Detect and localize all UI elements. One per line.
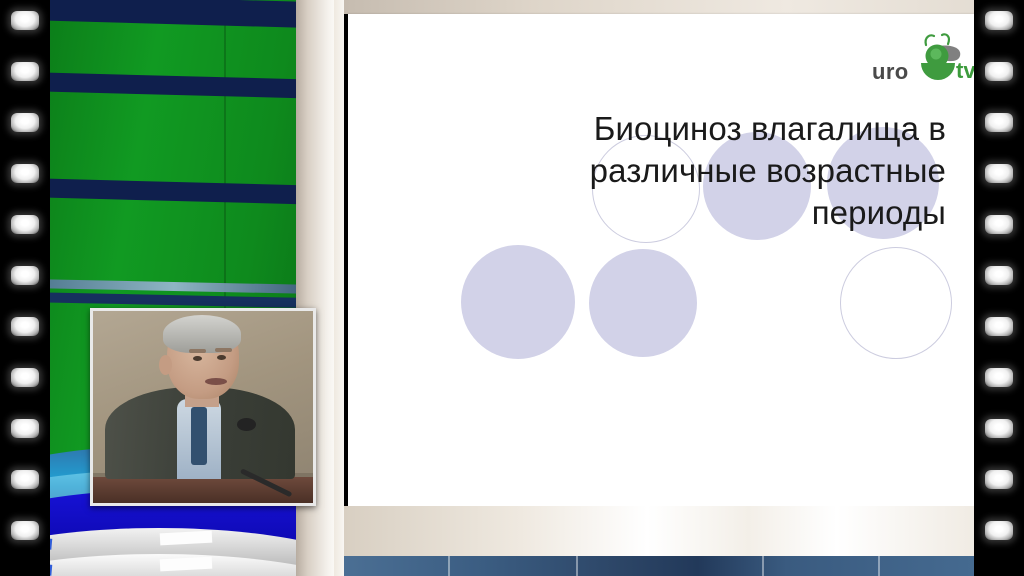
urotv-logo: uro tv [870,32,976,84]
presentation-slide: Биоциноз влагалища в различные возрастны… [348,14,976,506]
logo-text-uro: uro [872,59,909,85]
film-sprocket-hole [985,419,1013,438]
circle-outline-mid-right [840,247,952,359]
studio-column-highlight [334,0,344,576]
film-sprocket-hole [985,521,1013,540]
film-sprocket-hole [11,419,39,438]
slide-title: Биоциноз влагалища в различные возрастны… [526,108,946,235]
slide-title-line-1: Биоциноз влагалища в [526,108,946,150]
film-sprocket-hole [11,164,39,183]
film-sprocket-hole [985,266,1013,285]
film-sprocket-hole [985,470,1013,489]
film-sprocket-hole [11,368,39,387]
slide-title-line-3: периоды [526,192,946,234]
film-strip-left [0,0,50,576]
film-sprocket-hole [985,317,1013,336]
film-sprocket-hole [985,215,1013,234]
film-strip-right [974,0,1024,576]
microphone-head-icon [237,418,256,431]
film-sprocket-hole [985,62,1013,81]
film-sprocket-hole [11,215,39,234]
circle-fill-mid-center [589,249,697,357]
film-sprocket-hole [11,470,39,489]
slide-footer-bar [344,556,976,576]
film-sprocket-hole [11,317,39,336]
presentation-slide-region: Биоциноз влагалища в различные возрастны… [344,0,976,576]
film-sprocket-hole [985,113,1013,132]
studio-scene [34,0,344,576]
film-sprocket-hole [11,521,39,540]
slide-title-line-2: различные возрастные [526,150,946,192]
speaker-collar [191,407,207,465]
film-sprocket-hole [985,368,1013,387]
film-sprocket-hole [985,11,1013,30]
film-sprocket-hole [985,164,1013,183]
film-sprocket-hole [11,11,39,30]
slide-top-band [344,0,976,14]
film-sprocket-hole [11,62,39,81]
bug-mascot-icon [908,32,966,84]
film-sprocket-hole [11,266,39,285]
speaker-video-inset [90,308,316,506]
video-frame: Биоциноз влагалища в различные возрастны… [0,0,1024,576]
slide-bottom-band [344,506,976,556]
film-sprocket-hole [11,113,39,132]
circle-fill-mid-left [461,245,575,359]
